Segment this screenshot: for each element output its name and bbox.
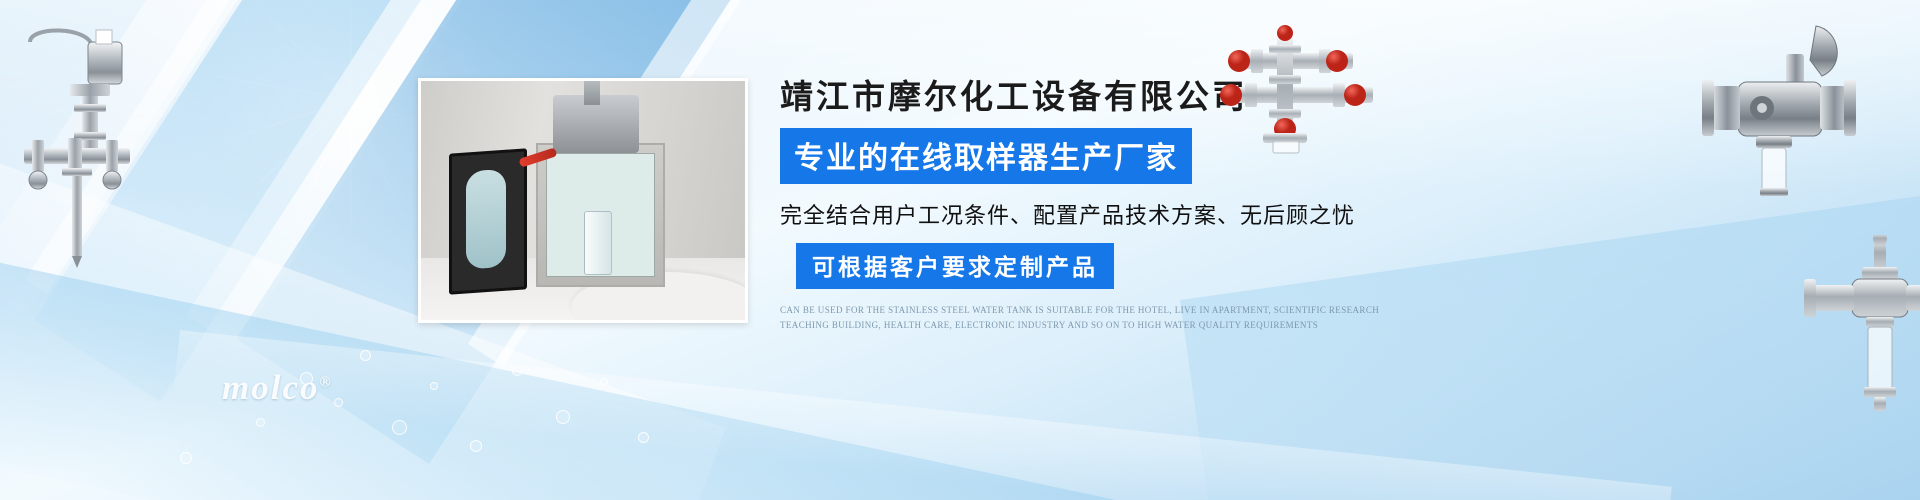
product-photo[interactable] [418, 78, 748, 323]
flanged-valve-svg [1690, 20, 1860, 200]
tagline-row: 可根据客户要求定制产品 [796, 243, 1400, 289]
light-sweep [173, 330, 1672, 500]
bubble-icon [600, 378, 608, 386]
photo-cabinet-door [449, 148, 527, 294]
bubble-icon [392, 420, 407, 435]
sun-ray-icon [350, 100, 352, 250]
sampling-probe-svg [10, 20, 160, 270]
bubble-icon [180, 452, 192, 464]
sun-ray-icon [239, 99, 352, 201]
bubble-icon [512, 366, 522, 376]
valve-manifold-illustration [1215, 25, 1385, 155]
sun-ray-icon [350, 100, 413, 238]
bubble-icon [256, 418, 265, 427]
bubble-icon [360, 350, 371, 361]
flanged-valve-illustration [1690, 20, 1860, 200]
inline-sampler-illustration [1800, 235, 1920, 415]
sun-ray-icon [208, 99, 351, 147]
tagline: 可根据客户要求定制产品 [796, 243, 1114, 289]
promo-banner: 靖江市摩尔化工设备有限公司 专业的在线取样器生产厂家 完全结合用户工况条件、配置… [0, 0, 1920, 500]
sun-ray-icon [350, 0, 352, 100]
photo-sample-bottle [584, 211, 612, 275]
subheadline: 完全结合用户工况条件、配置产品技术方案、无后顾之忧 [780, 198, 1400, 230]
bubble-icon [430, 382, 438, 390]
sun-ray-icon [244, 0, 351, 101]
inline-sampler-svg [1800, 235, 1920, 415]
sun-ray-icon [289, 100, 352, 238]
bubble-icon [556, 410, 570, 424]
watermark-text: molco [222, 368, 319, 407]
photo-valve-stem [584, 79, 600, 105]
bubble-icon [638, 432, 649, 443]
sampling-probe-assembly-illustration [10, 20, 160, 270]
brand-watermark: molco® [222, 368, 333, 408]
fineprint-description: CAN BE USED FOR THE STAINLESS STEEL WATE… [780, 303, 1380, 333]
photo-door-window [466, 169, 506, 270]
bubble-icon [470, 440, 482, 452]
registered-mark-icon: ® [319, 374, 332, 390]
valve-manifold-svg [1215, 25, 1385, 155]
headline: 专业的在线取样器生产厂家 [780, 128, 1192, 184]
bubble-icon [334, 398, 343, 407]
sun-ray-icon [203, 73, 351, 101]
